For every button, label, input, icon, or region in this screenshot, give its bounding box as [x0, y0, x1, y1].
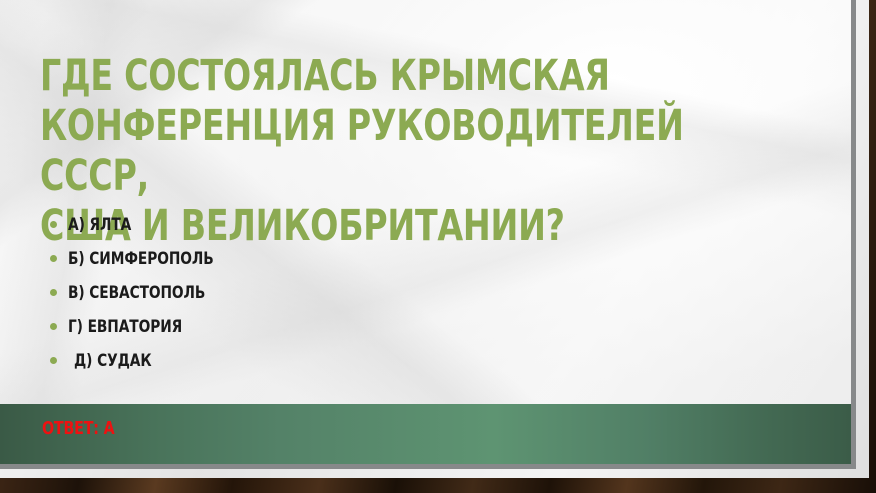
bullet-dot-icon [50, 357, 57, 364]
bullet-dot-icon [50, 289, 57, 296]
list-item[interactable]: Д) СУДАК [46, 344, 606, 378]
bullet-dot-icon [50, 323, 57, 330]
bullet-dot-icon [50, 221, 57, 228]
list-item[interactable]: А) ЯЛТА [46, 208, 606, 242]
option-label: Г) ЕВПАТОРИЯ [68, 310, 182, 344]
list-item[interactable]: В) СЕВАСТОПОЛЬ [46, 276, 606, 310]
presentation-slide: ГДЕ СОСТОЯЛАСЬ КРЫМСКАЯ КОНФЕРЕНЦИЯ РУКО… [0, 0, 851, 464]
option-label: Б) СИМФЕРОПОЛЬ [68, 242, 214, 276]
option-label: В) СЕВАСТОПОЛЬ [68, 276, 205, 310]
answer-options-list: А) ЯЛТА Б) СИМФЕРОПОЛЬ В) СЕВАСТОПОЛЬ Г)… [46, 208, 606, 378]
slide-frame-rule-bottom [0, 464, 856, 469]
option-label: А) ЯЛТА [68, 208, 131, 242]
slide-frame-rule-right [851, 0, 856, 468]
bullet-dot-icon [50, 255, 57, 262]
answer-text: ОТВЕТ: А [42, 418, 114, 439]
list-item[interactable]: Б) СИМФЕРОПОЛЬ [46, 242, 606, 276]
answer-banner: ОТВЕТ: А [0, 404, 851, 464]
option-label: Д) СУДАК [74, 344, 151, 378]
list-item[interactable]: Г) ЕВПАТОРИЯ [46, 310, 606, 344]
slide-stage: ГДЕ СОСТОЯЛАСЬ КРЫМСКАЯ КОНФЕРЕНЦИЯ РУКО… [0, 0, 876, 493]
